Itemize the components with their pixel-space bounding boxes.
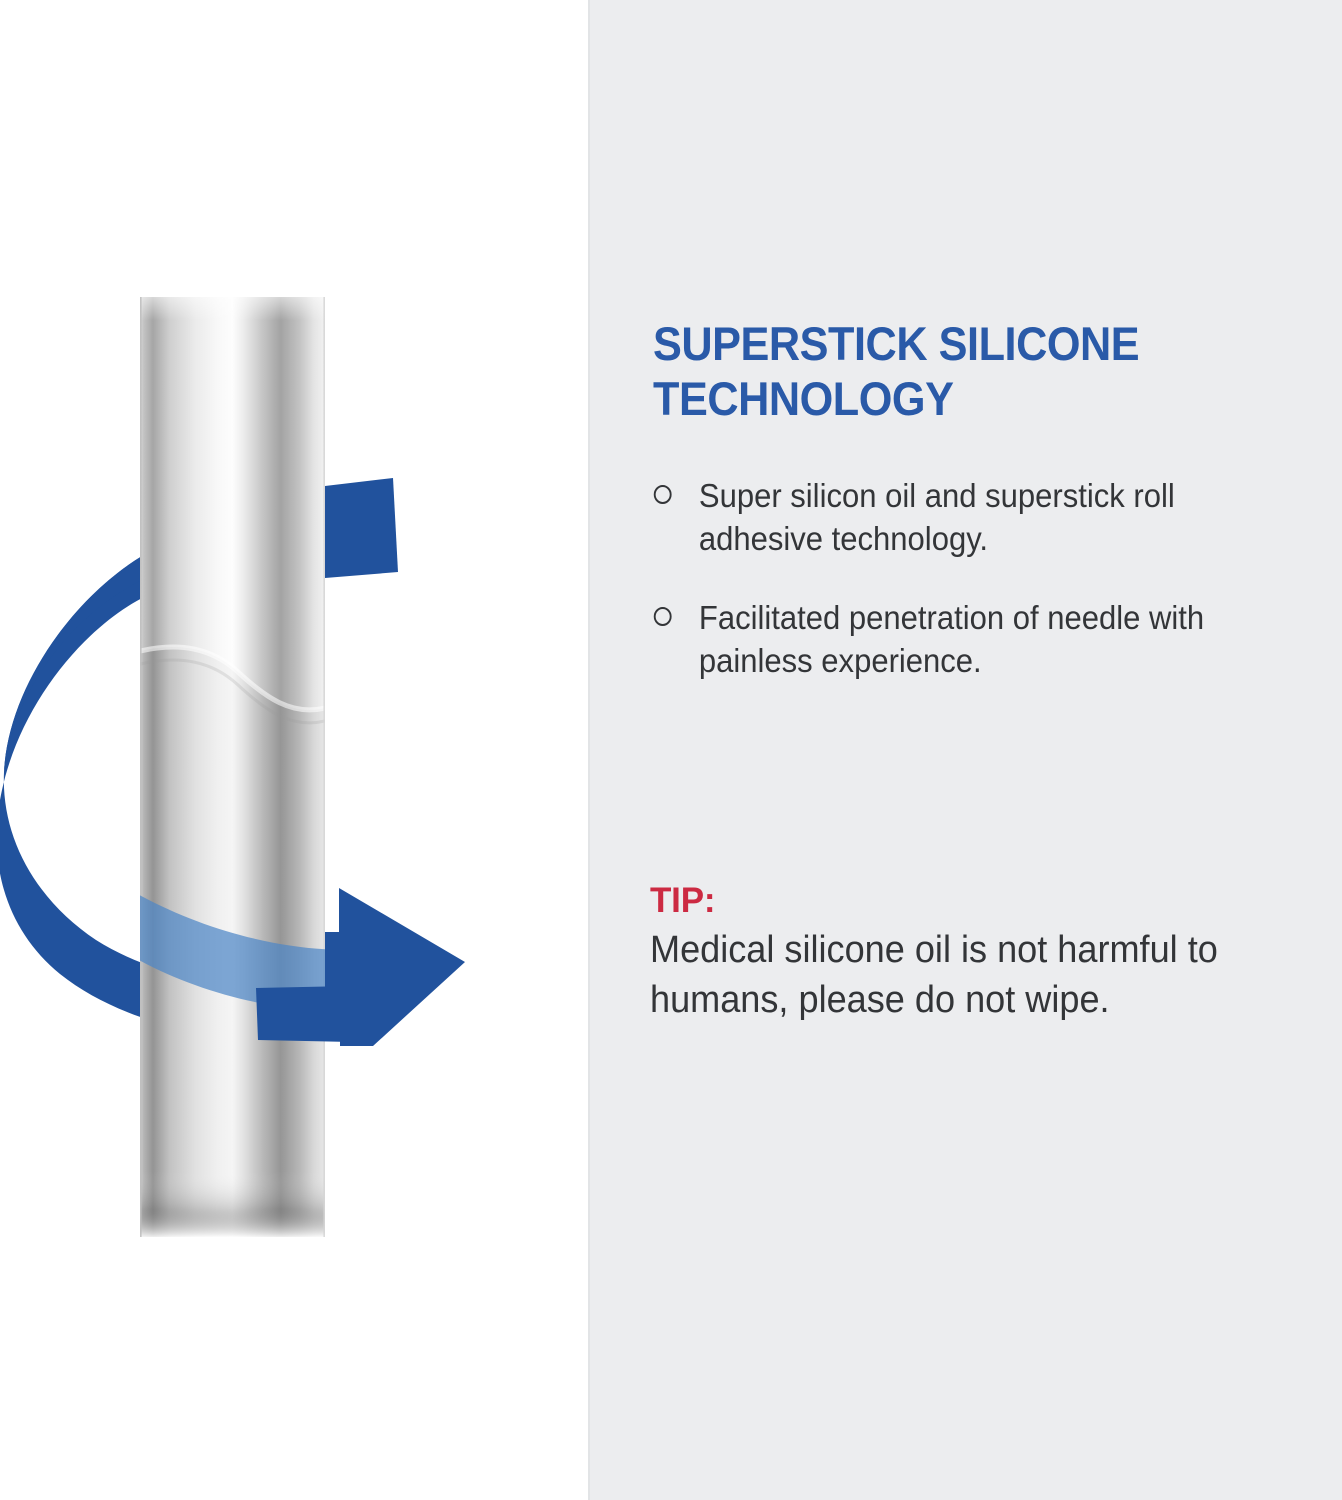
tip-label: TIP: (650, 878, 1310, 923)
illustration-panel (0, 0, 588, 1500)
feature-text: Super silicon oil and superstick roll ad… (699, 477, 1175, 557)
arrow-head (325, 888, 465, 1046)
product-feature-infographic: SUPERSTICK SILICONE TECHNOLOGY Super sil… (0, 0, 1342, 1500)
feature-list: Super silicon oil and superstick roll ad… (650, 474, 1330, 682)
circle-bullet-icon (654, 607, 672, 626)
feature-text: Facilitated penetration of needle with p… (699, 599, 1204, 679)
text-panel: SUPERSTICK SILICONE TECHNOLOGY Super sil… (590, 0, 1342, 1500)
page-title: SUPERSTICK SILICONE TECHNOLOGY (653, 316, 1242, 426)
circle-bullet-icon (654, 485, 672, 504)
arrow-tail-behind-cylinder (325, 478, 398, 578)
tip-text: Medical silicone oil is not harmful to h… (650, 925, 1277, 1025)
rotating-cylinder-illustration (0, 0, 588, 1500)
metal-cylinder (140, 297, 325, 1237)
tip-block: TIP: Medical silicone oil is not harmful… (650, 878, 1310, 1025)
list-item: Super silicon oil and superstick roll ad… (650, 474, 1289, 560)
list-item: Facilitated penetration of needle with p… (650, 596, 1289, 682)
